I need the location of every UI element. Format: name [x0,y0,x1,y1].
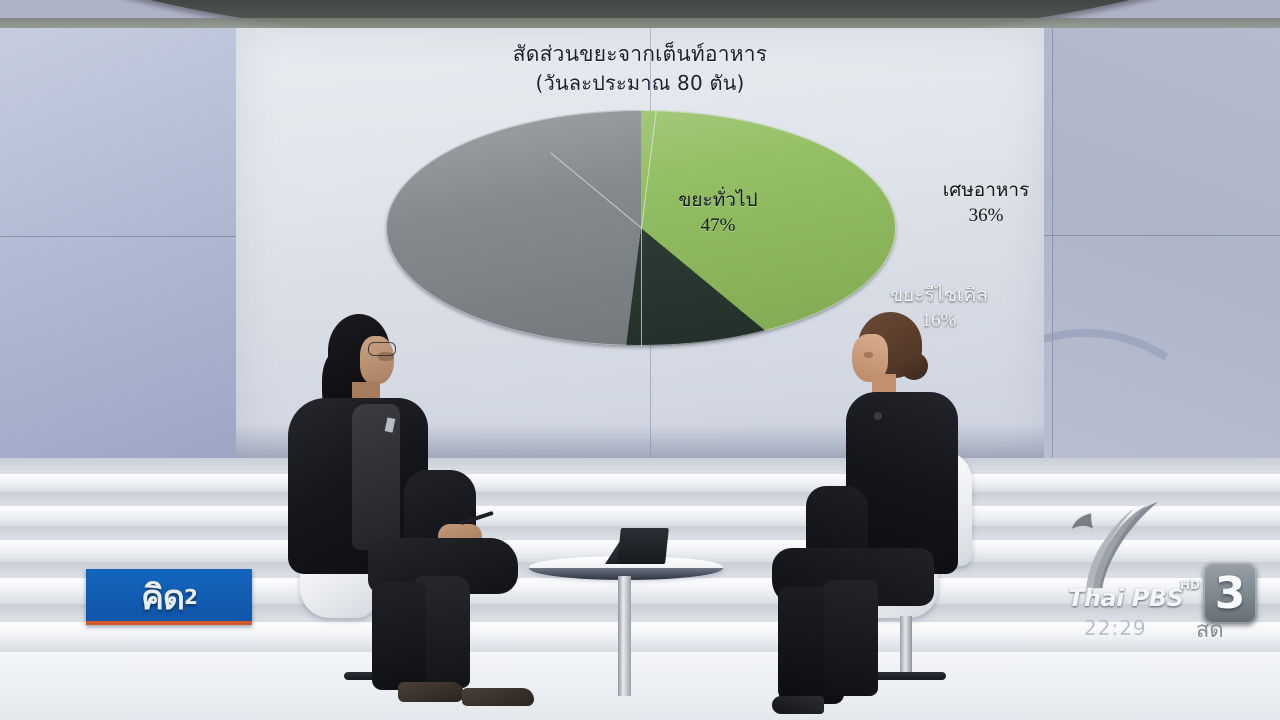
pie-label-food-waste-name: เศษอาหาร [896,178,1076,203]
tablet-device [605,528,667,564]
broadcast-screenshot: สัดส่วนขยะจากเต็นท์อาหาร (วันละประมาณ 80… [0,0,1280,720]
tablet-screen [617,528,669,564]
chart-title-block: สัดส่วนขยะจากเต็นท์อาหาร (วันละประมาณ 80… [236,40,1044,98]
channel-name: Thai PBS [1068,584,1183,612]
chart-subtitle: (วันละประมาณ 80 ตัน) [236,69,1044,98]
program-logo-badge: คิด2 [86,569,252,625]
live-indicator: สด [1196,612,1224,647]
on-screen-clock: 22:29 [1084,616,1147,640]
studio-wall-left [0,28,236,490]
stage-step [0,474,1280,492]
pie-slice-divider [641,228,642,346]
chart-title: สัดส่วนขยะจากเต็นท์อาหาร [236,40,1044,69]
channel-quality-badge: HD [1180,578,1200,592]
program-logo-label: คิด [141,570,184,624]
studio-wall-right [1044,28,1280,490]
pie-body [386,110,896,410]
pie-label-general-waste: ขยะทั่วไป 47% [628,188,808,238]
pie-label-food-waste: เศษอาหาร 36% [896,178,1076,228]
program-logo-stripe [86,621,252,625]
wall-panel-seam [0,236,236,237]
thai-pbs-bird-icon [1070,500,1166,592]
pie-label-general-waste-name: ขยะทั่วไป [628,188,808,213]
pie-label-recyclable-waste-name: ขยะรีไซเคิล [844,283,1034,308]
pie-label-general-waste-value: 47% [628,213,808,238]
table-stem [618,576,631,696]
stage-riser [0,458,1280,474]
channel-bug: Thai PBS HD 3 22:29 สด [1048,500,1258,640]
program-logo-superscript: 2 [184,585,197,609]
wall-panel-seam [1044,235,1280,236]
program-logo-text: คิด2 [86,569,252,625]
studio-floor-front [0,652,1280,720]
pie-label-food-waste-value: 36% [896,203,1076,228]
